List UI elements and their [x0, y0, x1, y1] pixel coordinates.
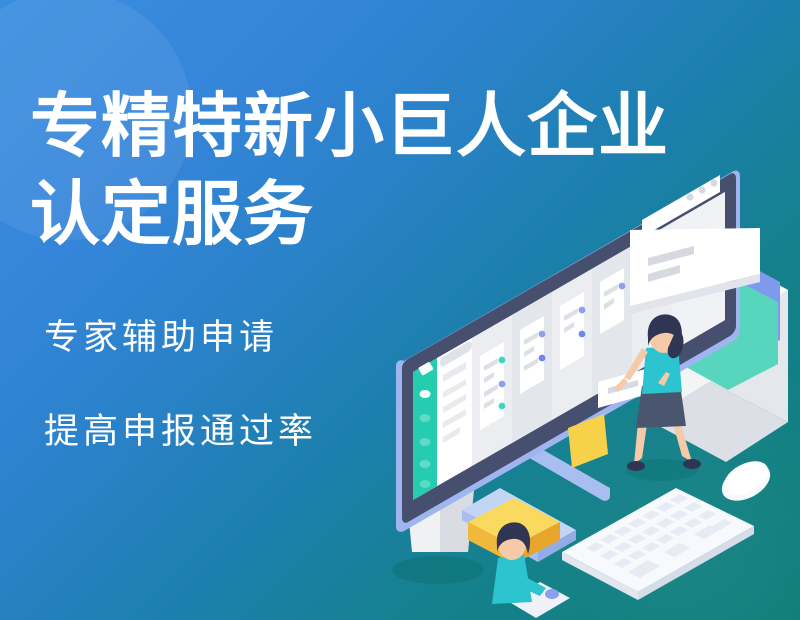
keyboard-icon: [562, 488, 754, 600]
subheadline-1: 专家辅助申请: [44, 316, 669, 360]
headline-line-1: 专精特新小巨人企业: [30, 82, 669, 170]
subheadline-2: 提高申报通过率: [44, 410, 669, 454]
copy-block: 专精特新小巨人企业 认定服务 专家辅助申请 提高申报通过率: [30, 82, 669, 454]
mouse-icon: [716, 454, 777, 508]
headline-line-2: 认定服务: [30, 170, 669, 258]
promo-banner: 专精特新小巨人企业 认定服务 专家辅助申请 提高申报通过率: [0, 0, 800, 620]
